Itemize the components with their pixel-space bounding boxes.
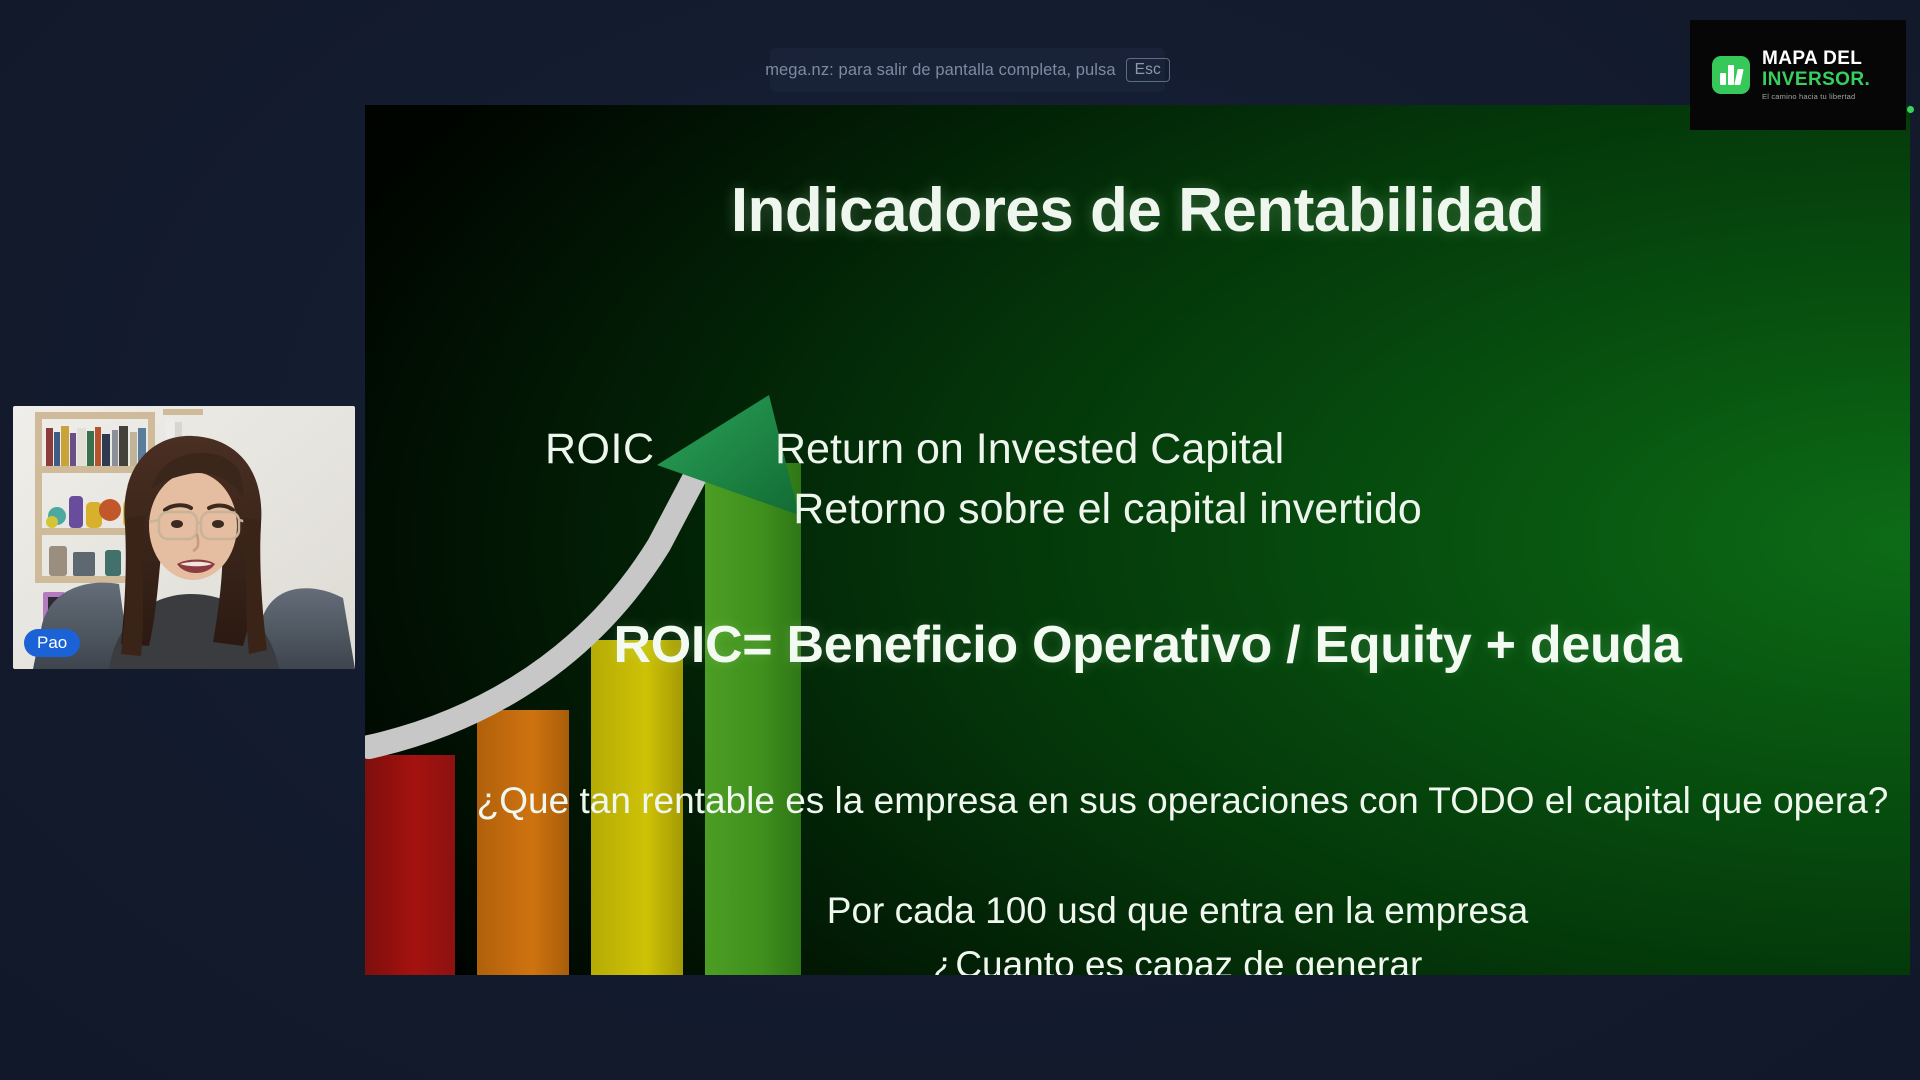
bar-chart-logo-icon bbox=[1712, 56, 1750, 94]
slide-question-secondary-line1: Por cada 100 usd que entra en la empresa bbox=[365, 890, 1910, 932]
recording-indicator-dot bbox=[1907, 106, 1914, 113]
slide-title: Indicadores de Rentabilidad bbox=[365, 175, 1910, 246]
brand-logo-overlay: MAPA DEL INVERSOR. El camino hacia tu li… bbox=[1690, 20, 1906, 130]
slide-question-primary: ¿Que tan rentable es la empresa en sus o… bbox=[365, 780, 1910, 822]
roic-expansion-english: Return on Invested Capital bbox=[775, 425, 1284, 474]
brand-tagline: El camino hacia tu libertad bbox=[1762, 93, 1870, 101]
brand-line-1: MAPA DEL bbox=[1762, 49, 1870, 68]
participant-video-tile[interactable]: Pao bbox=[13, 406, 355, 669]
roic-definition-row: ROIC Return on Invested Capital bbox=[365, 425, 1910, 474]
meeting-screenshare-view: mega.nz: para salir de pantalla completa… bbox=[0, 0, 1920, 1080]
roic-formula: ROIC= Beneficio Operativo / Equity + deu… bbox=[365, 615, 1910, 675]
brand-wordmark: MAPA DEL INVERSOR. El camino hacia tu li… bbox=[1762, 49, 1870, 101]
fullscreen-toast-message: mega.nz: para salir de pantalla completa… bbox=[765, 61, 1115, 80]
participant-name-badge: Pao bbox=[24, 629, 80, 657]
shared-slide[interactable]: Indicadores de Rentabilidad ROIC Return … bbox=[365, 105, 1910, 975]
esc-key-hint: Esc bbox=[1126, 58, 1170, 82]
brand-line-2: INVERSOR. bbox=[1762, 70, 1870, 89]
roic-abbreviation: ROIC bbox=[545, 425, 775, 474]
slide-question-secondary-line2: ¿Cuanto es capaz de generar bbox=[365, 944, 1910, 975]
fullscreen-exit-toast: mega.nz: para salir de pantalla completa… bbox=[770, 48, 1165, 92]
roic-expansion-spanish: Retorno sobre el capital invertido bbox=[365, 485, 1910, 534]
